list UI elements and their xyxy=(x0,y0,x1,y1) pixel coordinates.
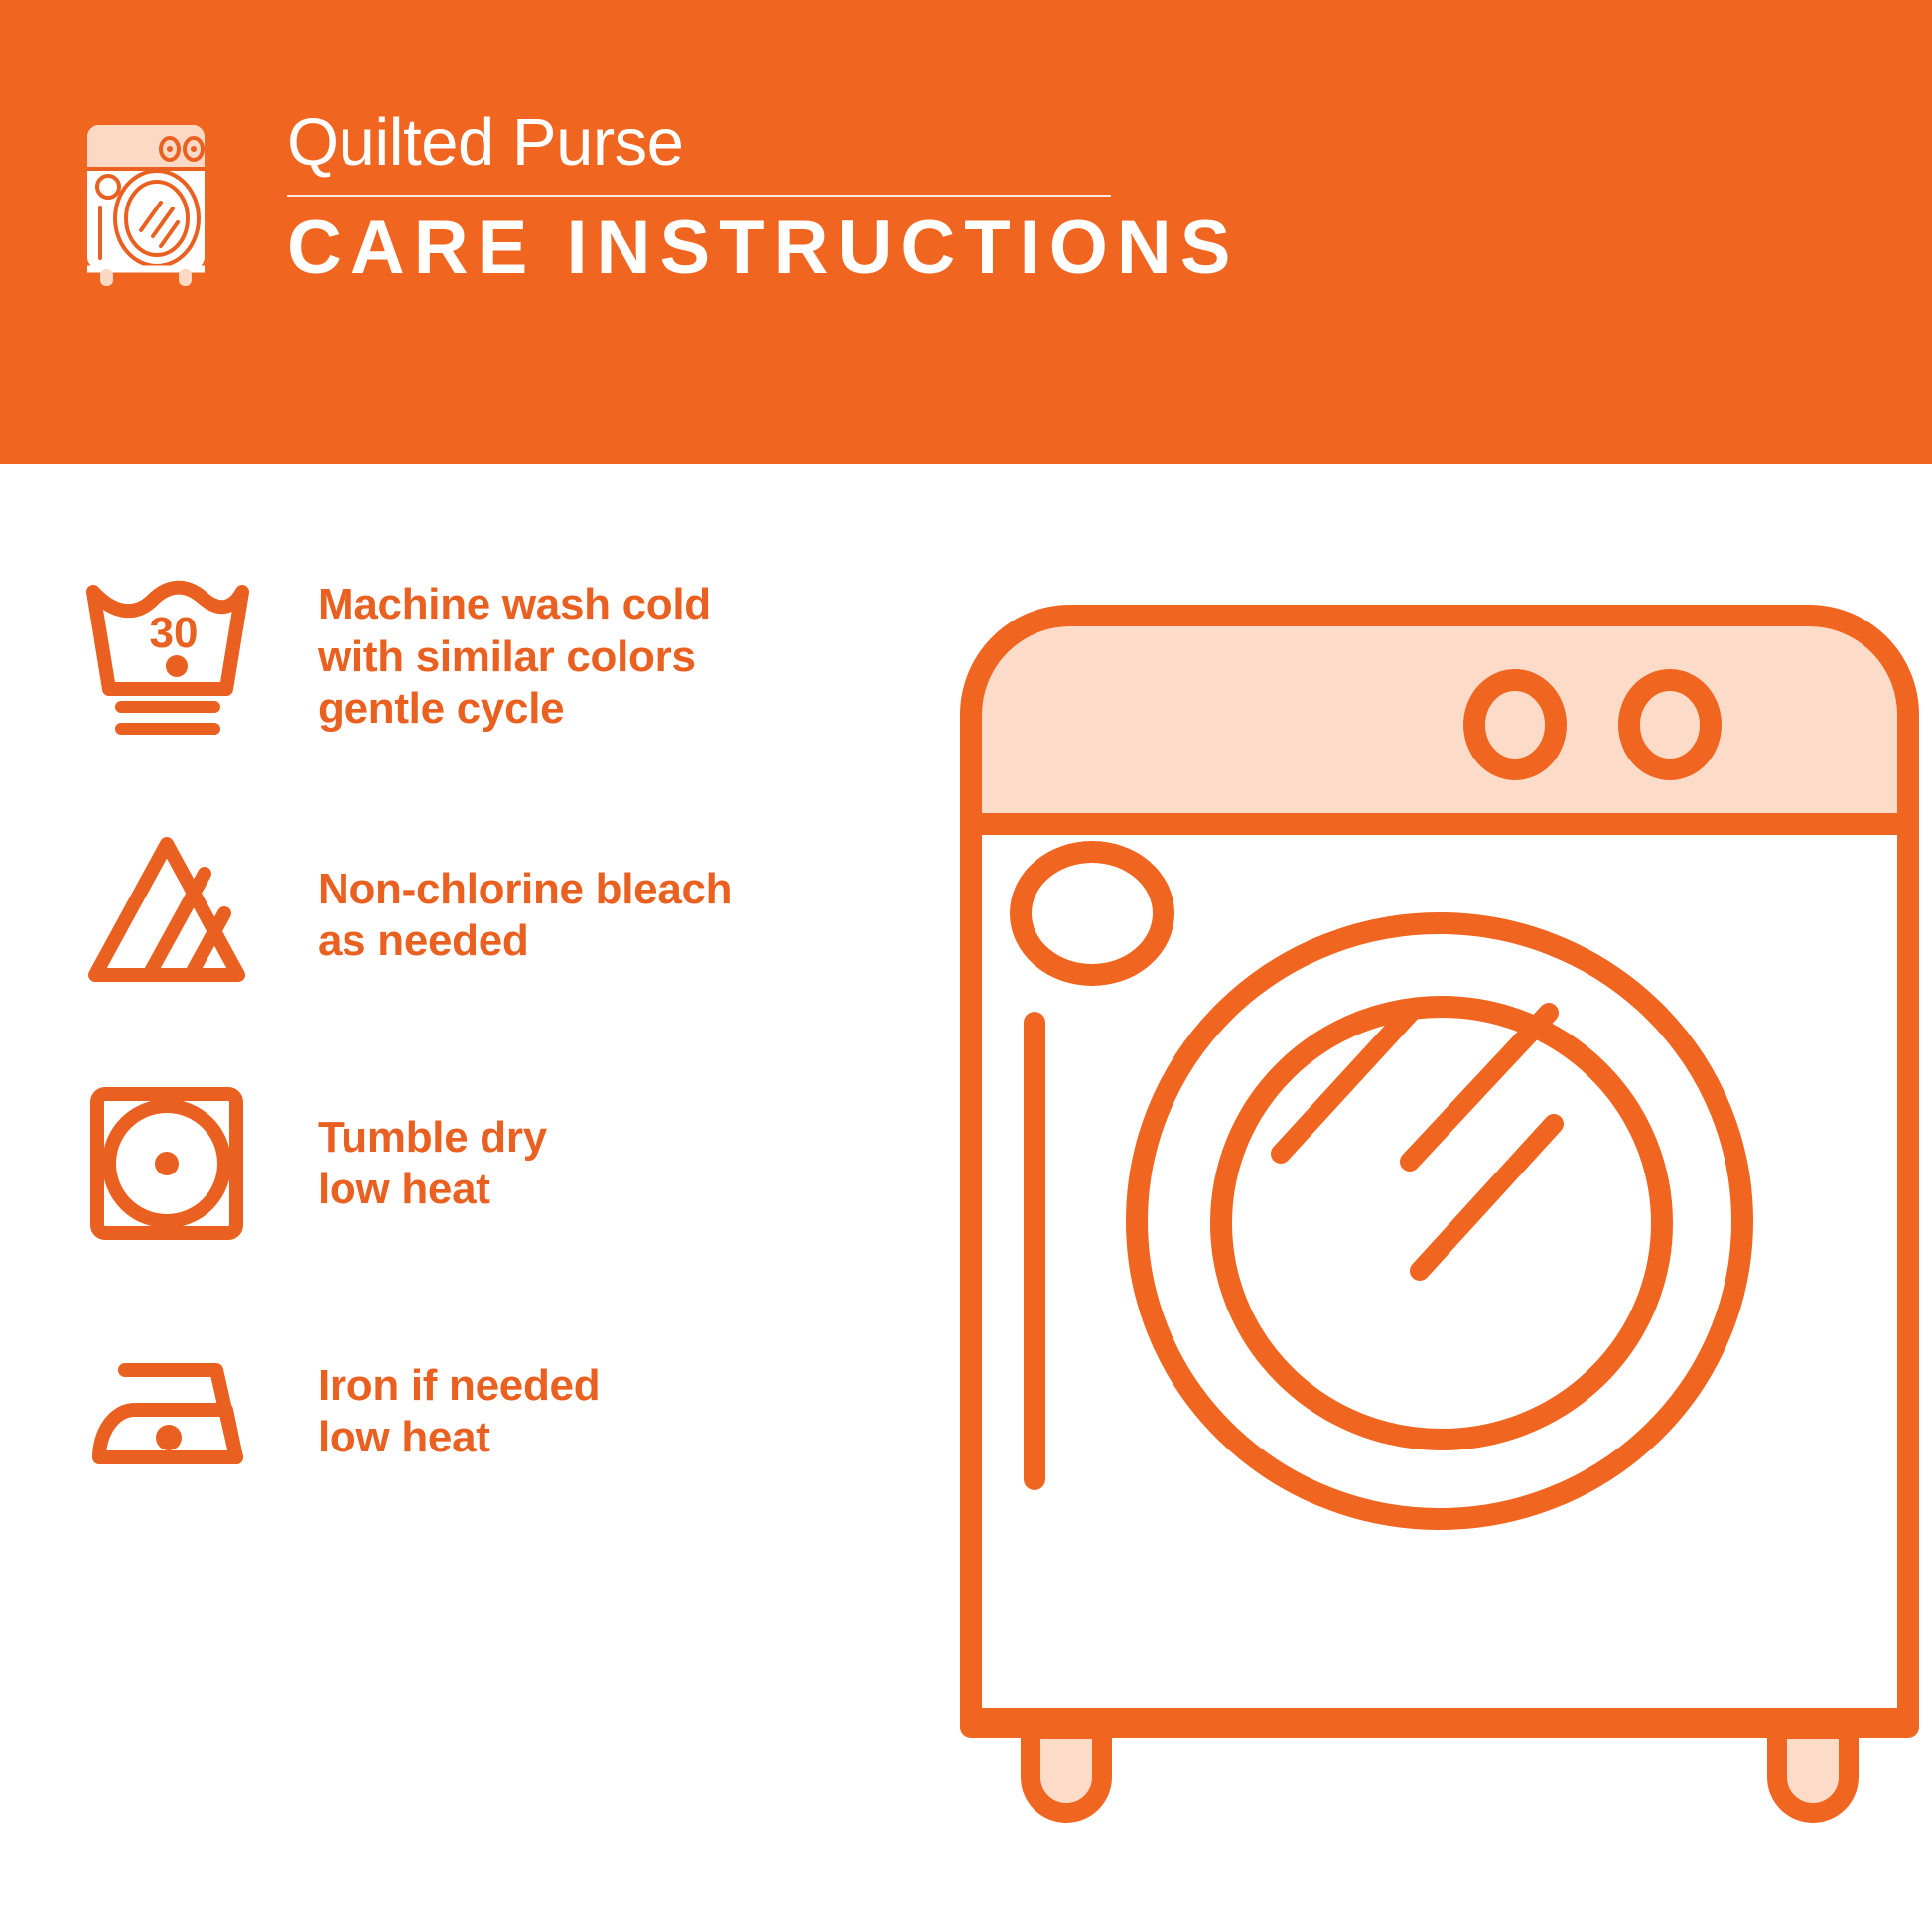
title-divider xyxy=(287,195,1111,197)
page-title: Quilted Purse xyxy=(287,109,1111,183)
instruction-line: low heat xyxy=(318,1164,547,1215)
care-instructions-list: 30 Machine wash cold with similar colors… xyxy=(0,464,943,1932)
instruction-label-tumble-dry: Tumble dry low heat xyxy=(318,1112,547,1216)
instruction-line: low heat xyxy=(318,1412,600,1463)
instruction-label-machine-wash: Machine wash cold with similar colors ge… xyxy=(318,579,711,735)
instruction-row-tumble-dry: Tumble dry low heat xyxy=(77,1069,852,1258)
care-instructions-heading: CARE INSTRUCTIONS xyxy=(287,210,1111,286)
instruction-line: Tumble dry xyxy=(318,1112,547,1164)
machine-wash-30-gentle-symbol: 30 xyxy=(77,563,256,752)
instruction-row-iron: Iron if needed low heat xyxy=(77,1317,852,1506)
control-panel-fill xyxy=(971,616,1908,824)
non-chlorine-bleach-symbol xyxy=(77,821,256,1010)
door-inner-ring xyxy=(1221,1007,1662,1440)
leg-right xyxy=(1777,1729,1849,1813)
power-button xyxy=(1021,852,1164,975)
instruction-line: with similar colors xyxy=(318,631,711,683)
wash-temperature-label: 30 xyxy=(150,609,199,657)
washing-machine-illustration xyxy=(953,596,1926,1837)
instruction-line: Iron if needed xyxy=(318,1360,600,1412)
header-band: Quilted Purse CARE INSTRUCTIONS xyxy=(0,0,1932,464)
instruction-label-bleach: Non-chlorine bleach as needed xyxy=(318,864,732,968)
washing-machine-icon xyxy=(75,119,224,288)
instruction-row-machine-wash: 30 Machine wash cold with similar colors… xyxy=(77,563,852,752)
instruction-label-iron: Iron if needed low heat xyxy=(318,1360,600,1464)
instruction-row-bleach: Non-chlorine bleach as needed xyxy=(77,821,852,1010)
tumble-dry-low-symbol xyxy=(77,1069,256,1258)
header-text-block: Quilted Purse CARE INSTRUCTIONS xyxy=(287,109,1111,286)
instruction-line: Non-chlorine bleach xyxy=(318,864,732,915)
leg-left xyxy=(1031,1729,1102,1813)
header-content: Quilted Purse CARE INSTRUCTIONS xyxy=(75,117,1111,294)
instruction-line: gentle cycle xyxy=(318,683,711,735)
instruction-line: as needed xyxy=(318,915,732,967)
iron-low-heat-symbol xyxy=(77,1317,256,1506)
instruction-line: Machine wash cold xyxy=(318,579,711,630)
